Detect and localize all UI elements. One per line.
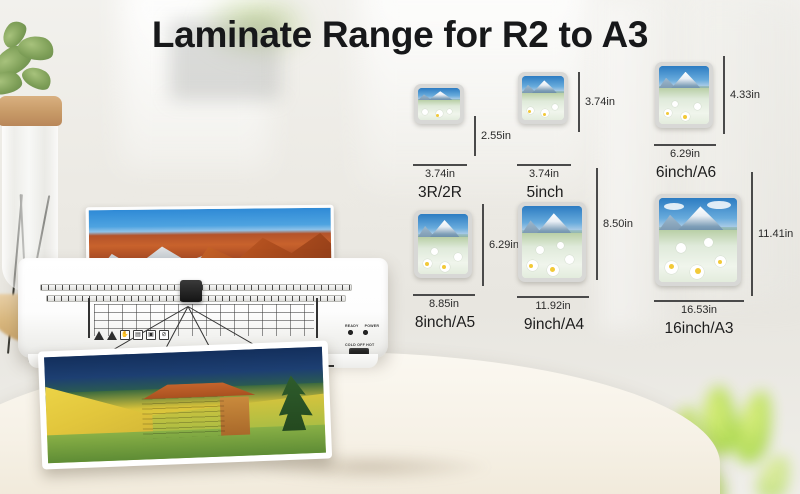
no-hand-icon: ✋ bbox=[120, 330, 130, 340]
daisy bbox=[704, 238, 713, 247]
thumbnail-image bbox=[522, 206, 582, 278]
thumbnail-3r-2r bbox=[414, 84, 464, 124]
card-label-6inch-a6: 6inch/A6 bbox=[633, 164, 739, 182]
dimension-value: 3.74in bbox=[517, 168, 571, 180]
daisy bbox=[431, 248, 438, 255]
daisy-center bbox=[683, 115, 687, 119]
size-card-8inch-a5: 6.29in 8.85in 8inch/A5 bbox=[414, 210, 472, 278]
ready-led bbox=[348, 330, 353, 335]
thumbnail-9inch-a4 bbox=[518, 202, 586, 282]
daisy bbox=[454, 253, 462, 261]
daisy bbox=[557, 242, 564, 249]
size-card-9inch-a4: 8.50in 11.92in 9inch/A4 bbox=[518, 202, 586, 282]
daisy bbox=[536, 246, 544, 254]
switch-label: COLD OFF HOT bbox=[345, 343, 387, 347]
power-led bbox=[363, 330, 368, 335]
barn-front-wall bbox=[142, 395, 226, 438]
thumbnail-5inch bbox=[518, 72, 568, 124]
dimension-height-9inch-a4: 8.50in bbox=[596, 168, 633, 280]
daisy-center bbox=[425, 262, 429, 266]
trimmer-deck bbox=[40, 284, 352, 336]
daisy-center bbox=[528, 110, 531, 113]
daisy-center bbox=[666, 112, 669, 115]
dimension-width-9inch-a4: 11.92in bbox=[517, 296, 589, 312]
dimension-width-6inch-a6: 6.29in bbox=[654, 144, 716, 160]
dimension-value: 8.50in bbox=[603, 218, 633, 230]
dimension-height-8inch-a5: 6.29in bbox=[482, 204, 519, 286]
dimension-value: 11.41in bbox=[758, 228, 793, 240]
laminated-photo-output bbox=[38, 340, 332, 469]
dimension-value: 4.33in bbox=[730, 89, 760, 101]
card-label-3r-2r: 3R/2R bbox=[392, 184, 488, 202]
thumbnail-8inch-a5 bbox=[414, 210, 472, 278]
ready-label: READY bbox=[345, 324, 359, 328]
document-icon: ▣ bbox=[146, 330, 156, 340]
daisy-center bbox=[543, 113, 546, 116]
dimension-width-5inch: 3.74in bbox=[517, 164, 571, 180]
dimension-height-16inch-a3: 11.41in bbox=[751, 172, 793, 296]
vase-cork-top bbox=[0, 96, 62, 126]
trimmer-cutter-head[interactable] bbox=[180, 280, 202, 302]
thumbnail-image bbox=[418, 214, 468, 274]
cloud bbox=[664, 203, 684, 210]
indicator-leds bbox=[348, 330, 387, 335]
dimension-value: 6.29in bbox=[654, 148, 716, 160]
photo-barn-landscape bbox=[44, 347, 326, 464]
size-card-3r-2r: 2.55in 3.74in 3R/2R bbox=[414, 84, 464, 124]
warning-icon-row: ✋ ▤ ▣ ⊘ bbox=[94, 330, 169, 340]
thumbnail-image bbox=[659, 198, 737, 282]
card-label-16inch-a3: 16inch/A3 bbox=[639, 320, 759, 338]
dimension-value: 6.29in bbox=[489, 239, 519, 251]
card-label-9inch-a4: 9inch/A4 bbox=[500, 316, 608, 334]
leaf-shape bbox=[731, 388, 777, 467]
daisy bbox=[565, 255, 574, 264]
size-cards-group: 2.55in 3.74in 3R/2R 3.74in 3.74in bbox=[400, 52, 800, 342]
daisy bbox=[672, 101, 678, 107]
laminator-body: ✋ ▤ ▣ ⊘ READY POWER COLD OFF HOT ▏▁ Lami… bbox=[18, 258, 388, 358]
dimension-width-16inch-a3: 16.53in bbox=[654, 300, 744, 316]
dimension-value: 16.53in bbox=[654, 304, 744, 316]
card-label-8inch-a5: 8inch/A5 bbox=[392, 314, 498, 332]
plant-leaf bbox=[0, 70, 23, 97]
dimension-width-3r-2r: 3.74in bbox=[413, 164, 467, 180]
prohibited-icon: ⊘ bbox=[159, 330, 169, 340]
dimension-height-3r-2r: 2.55in bbox=[474, 116, 511, 156]
dimension-value: 3.74in bbox=[413, 168, 467, 180]
card-label-5inch: 5inch bbox=[498, 184, 592, 202]
manual-icon: ▤ bbox=[133, 330, 143, 340]
photo-barn bbox=[137, 381, 250, 438]
thumbnail-image bbox=[522, 76, 564, 120]
dimension-width-8inch-a5: 8.85in bbox=[413, 294, 475, 310]
daisy-center bbox=[718, 260, 722, 264]
vertical-scale-left bbox=[88, 298, 90, 338]
dimension-value: 3.74in bbox=[585, 96, 615, 108]
dimension-value: 8.85in bbox=[413, 298, 475, 310]
vertical-scale-right bbox=[316, 298, 318, 338]
dimension-height-5inch: 3.74in bbox=[578, 72, 615, 132]
size-card-5inch: 3.74in 3.74in 5inch bbox=[518, 72, 568, 124]
thumbnail-6inch-a6 bbox=[655, 62, 713, 128]
thumbnail-image bbox=[418, 88, 460, 120]
dimension-value: 2.55in bbox=[481, 130, 511, 142]
size-card-6inch-a6: 4.33in 6.29in 6inch/A6 bbox=[655, 62, 713, 128]
power-label: POWER bbox=[365, 324, 380, 328]
warning-triangle-icon bbox=[94, 330, 104, 340]
dimension-height-6inch-a6: 4.33in bbox=[723, 56, 760, 134]
thumbnail-16inch-a3 bbox=[655, 194, 741, 286]
thumbnail-image bbox=[659, 66, 709, 124]
indicator-labels: READY POWER bbox=[345, 324, 387, 328]
caution-triangle-icon bbox=[107, 330, 117, 340]
dimension-value: 11.92in bbox=[517, 300, 589, 312]
size-card-16inch-a3: 11.41in 16.53in 16inch/A3 bbox=[655, 194, 741, 286]
page-title: Laminate Range for R2 to A3 bbox=[0, 14, 800, 56]
laminator-machine: ✋ ▤ ▣ ⊘ READY POWER COLD OFF HOT ▏▁ Lami… bbox=[18, 238, 388, 378]
